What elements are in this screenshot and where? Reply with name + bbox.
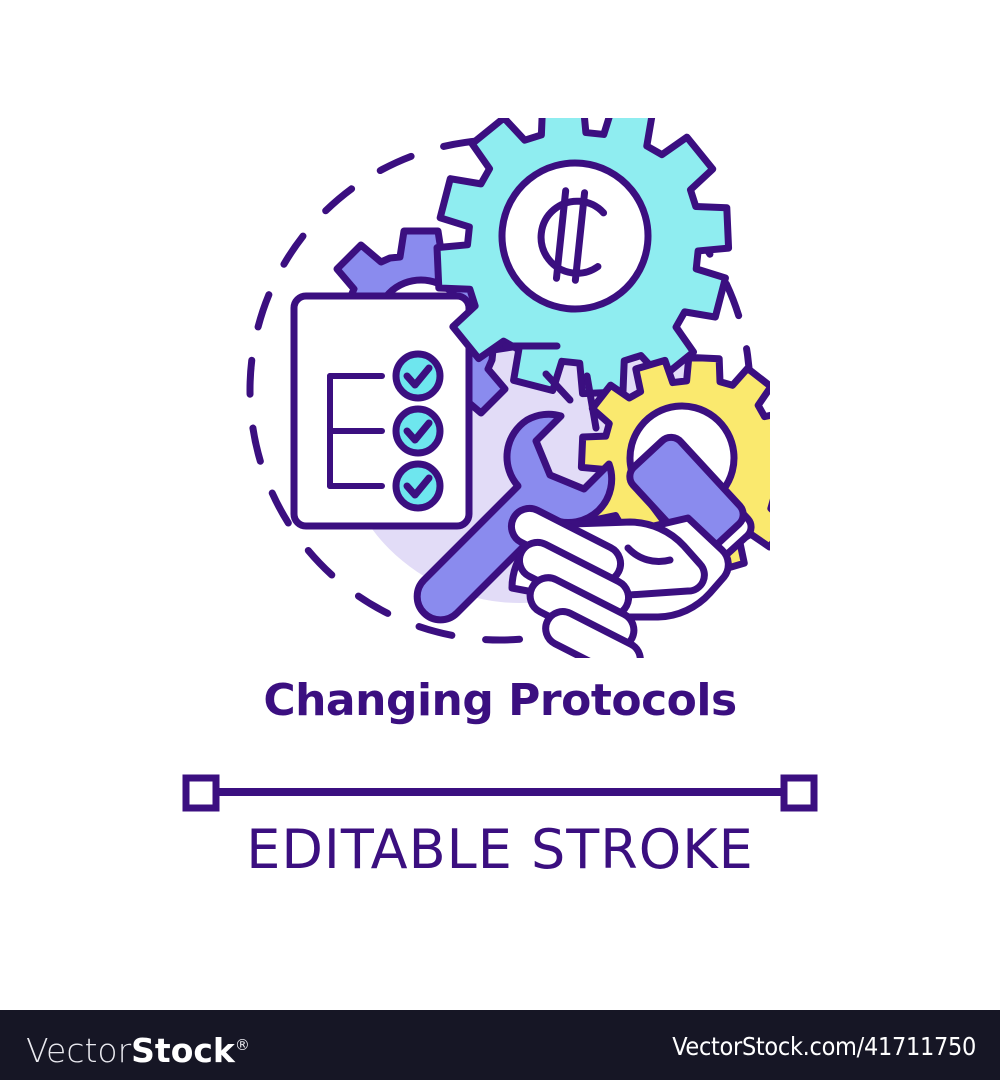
registered-mark-icon: ® bbox=[235, 1036, 250, 1054]
concept-illustration: .ol { fill:none; stroke:#3B0F80; stroke-… bbox=[230, 118, 770, 658]
clipboard bbox=[294, 296, 469, 526]
page-title: Changing Protocols bbox=[0, 675, 1000, 726]
checklist-item bbox=[396, 354, 440, 398]
illustration-canvas: .ol { fill:none; stroke:#3B0F80; stroke-… bbox=[0, 0, 1000, 1010]
logo-text-light: Vector bbox=[26, 1031, 131, 1070]
checklist-item bbox=[396, 409, 440, 453]
watermark-footer: VectorStock® VectorStock.com/41711750 bbox=[0, 1010, 1000, 1080]
stroke-handles-graphic bbox=[0, 770, 1000, 820]
logo-text-bold: Stock bbox=[131, 1031, 235, 1070]
stroke-handle-left bbox=[186, 778, 216, 808]
checklist-item bbox=[396, 464, 440, 508]
stroke-handle-right bbox=[784, 778, 814, 808]
vectorstock-url: VectorStock.com/41711750 bbox=[672, 1032, 976, 1061]
vectorstock-logo: VectorStock® bbox=[26, 1026, 250, 1070]
editable-stroke-label: EDITABLE STROKE bbox=[0, 818, 1000, 881]
